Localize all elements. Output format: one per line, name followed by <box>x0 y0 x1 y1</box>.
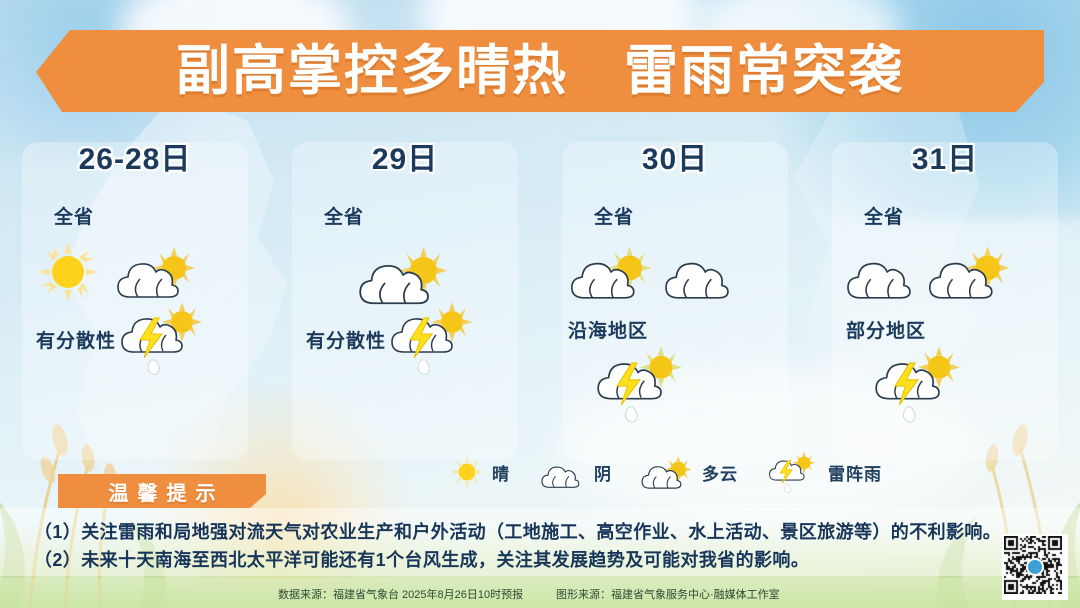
sunny-icon <box>36 240 100 304</box>
scope-label-bottom: 有分散性 <box>36 326 116 353</box>
tips-banner: 温馨提示 <box>58 474 266 508</box>
scope-label-bottom: 沿海地区 <box>568 316 648 343</box>
legend-item-sunny: 晴 <box>450 455 510 489</box>
day-heading: 30日 <box>540 134 810 178</box>
legend-label: 晴 <box>492 460 510 485</box>
day-heading: 26-28日 <box>0 134 270 178</box>
icon-row-top <box>566 240 738 304</box>
scope-label-top: 全省 <box>864 202 904 229</box>
icon-row-bottom <box>594 342 684 426</box>
partly-cloudy-icon <box>924 240 1012 304</box>
legend-label: 多云 <box>702 460 738 485</box>
infographic-canvas: 副高掌控多晴热 雷雨常突袭 26-28日 全省 <box>0 0 1080 608</box>
scope-label-top: 全省 <box>594 202 634 229</box>
partly-cloudy-icon <box>566 240 654 304</box>
qr-center-logo <box>1026 558 1044 576</box>
legend-item-cloudy: 多云 <box>638 452 738 492</box>
legend-item-overcast: 阴 <box>536 453 612 491</box>
overcast-icon <box>840 240 920 304</box>
overcast-icon <box>536 453 586 491</box>
icon-row-bottom <box>872 342 962 426</box>
footer-bar <box>0 578 1080 608</box>
icon-row-bottom <box>388 298 474 378</box>
weather-legend: 晴 阴 <box>450 448 1050 496</box>
day-heading: 31日 <box>810 134 1080 178</box>
partly-cloudy-icon <box>114 241 196 303</box>
title-banner: 副高掌控多晴热 雷雨常突袭 <box>36 30 1044 112</box>
tip-line-1: （1）关注雷雨和局地强对流天气对农业生产和户外活动（工地施工、高空作业、水上活动… <box>34 518 1001 544</box>
thunderstorm-icon <box>118 298 204 378</box>
page-title: 副高掌控多晴热 雷雨常突袭 <box>176 44 904 98</box>
legend-label: 阴 <box>594 460 612 485</box>
thunderstorm-icon <box>764 449 820 495</box>
forecast-column-26-28: 26-28日 全省 <box>0 120 270 440</box>
forecast-column-30: 30日 全省 <box>540 120 810 440</box>
partly-cloudy-icon <box>638 452 694 492</box>
tips-banner-label: 温馨提示 <box>100 477 225 506</box>
graphic-source-credit: 图形来源：福建省气象服务中心·融媒体工作室 <box>556 586 780 602</box>
tip-line-2: （2）未来十天南海至西北太平洋可能还有1个台风生成，关注其发展趋势及可能对我省的… <box>34 546 809 572</box>
icon-row-top <box>36 240 196 304</box>
scope-label-bottom: 有分散性 <box>306 326 386 353</box>
legend-item-thunderstorm: 雷阵雨 <box>764 449 882 495</box>
overcast-icon <box>658 240 738 304</box>
forecast-columns: 26-28日 全省 <box>0 120 1080 440</box>
thunderstorm-icon <box>594 342 684 426</box>
scope-label-bottom: 部分地区 <box>846 316 926 343</box>
icon-row-bottom <box>118 298 204 378</box>
forecast-column-31: 31日 全省 <box>810 120 1080 440</box>
sunny-icon <box>450 455 484 489</box>
data-source-credit: 数据来源：福建省气象台 2025年8月26日10时预报 <box>278 586 523 602</box>
legend-label: 雷阵雨 <box>828 460 882 485</box>
forecast-column-29: 29日 全省 <box>270 120 540 440</box>
thunderstorm-icon <box>872 342 962 426</box>
thunderstorm-icon <box>388 298 474 378</box>
qr-code[interactable] <box>1002 534 1068 600</box>
day-heading: 29日 <box>270 134 540 178</box>
icon-row-top <box>840 240 1012 304</box>
scope-label-top: 全省 <box>54 202 94 229</box>
scope-label-top: 全省 <box>324 202 364 229</box>
